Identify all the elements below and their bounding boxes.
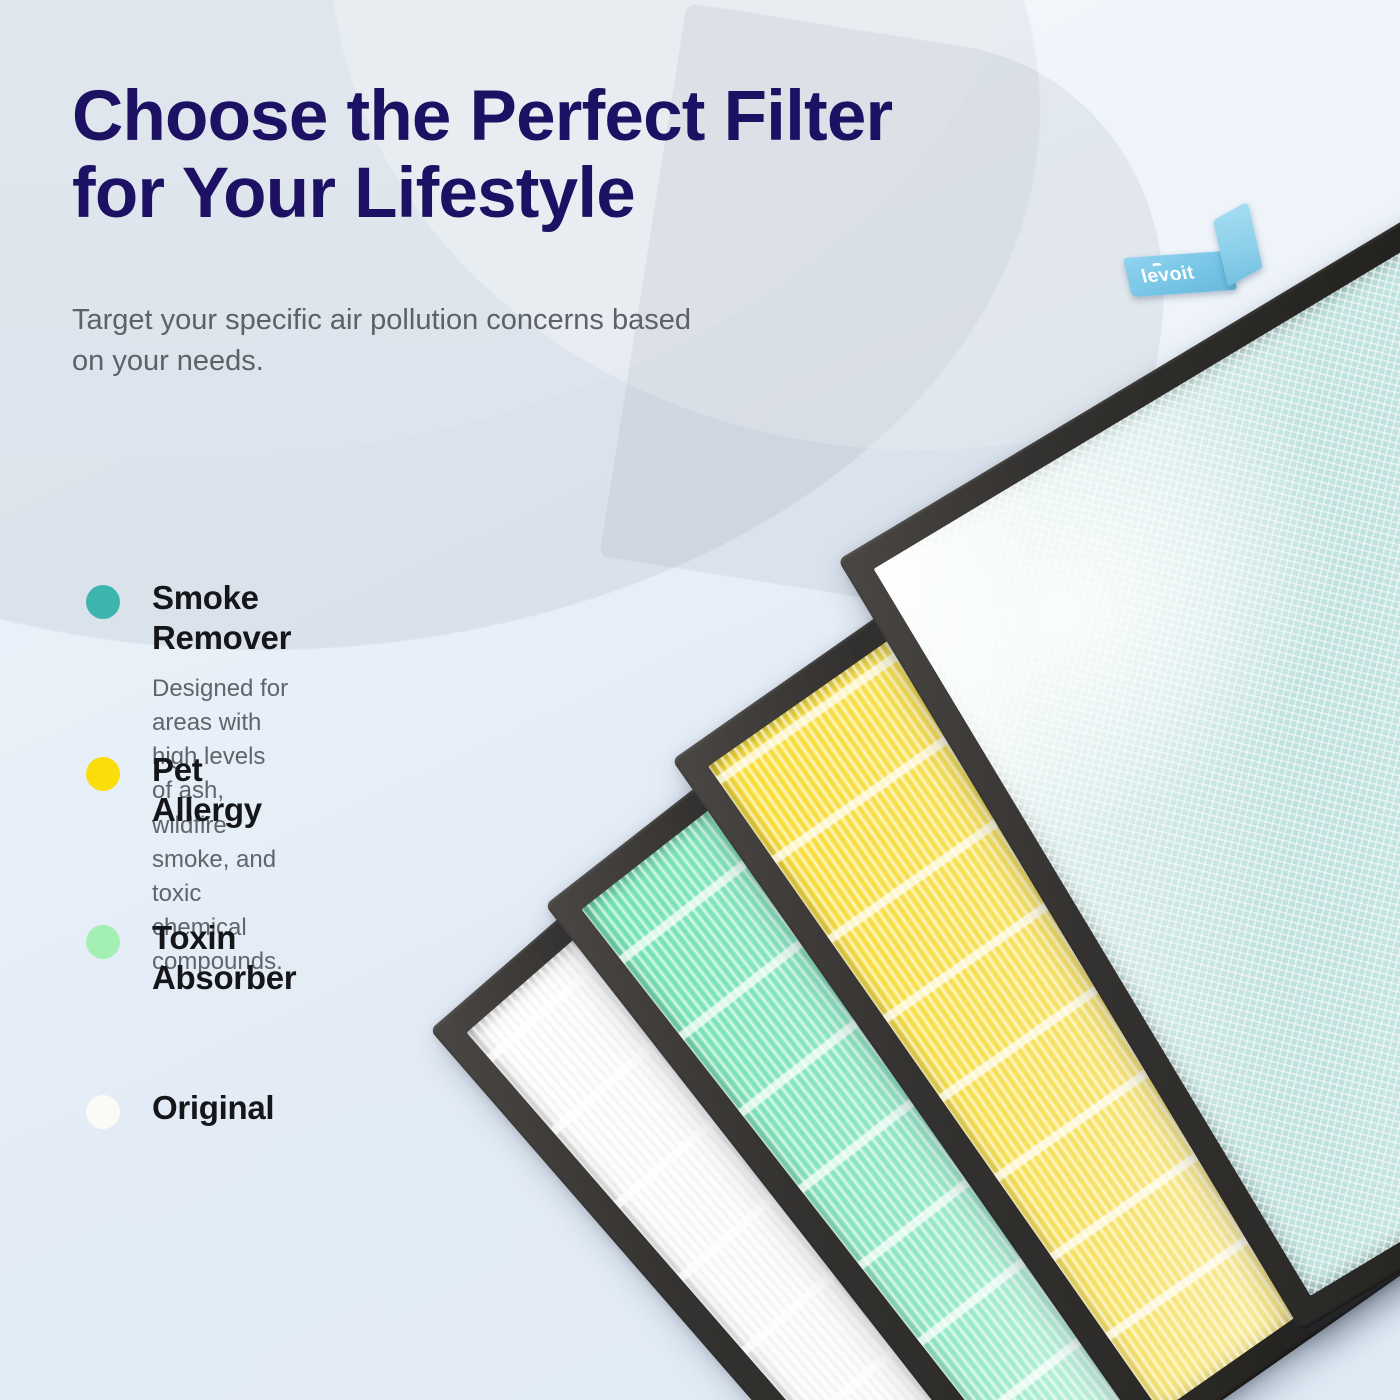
toxin-absorber-label: Toxin Absorber [152, 919, 296, 996]
list-item-pet-allergy[interactable]: Pet Allergy [86, 750, 262, 829]
page-subtitle: Target your specific air pollution conce… [72, 300, 842, 382]
smoke-remover-label: Smoke Remover [152, 579, 291, 656]
promo-stage: levoit Choose the Perfect Filter for You… [0, 0, 1400, 1400]
pet-allergy-label: Pet Allergy [152, 751, 262, 828]
page-title: Choose the Perfect Filter for Your Lifes… [72, 78, 1112, 233]
original-color-dot [86, 1095, 120, 1129]
smoke-remover-color-dot [86, 585, 120, 619]
toxin-absorber-color-dot [86, 925, 120, 959]
original-label: Original [152, 1089, 274, 1126]
list-item-toxin-absorber[interactable]: Toxin Absorber [86, 918, 296, 997]
pet-allergy-color-dot [86, 757, 120, 791]
copy-column: Choose the Perfect Filter for Your Lifes… [0, 0, 1400, 1400]
list-item-original[interactable]: Original [86, 1088, 274, 1129]
